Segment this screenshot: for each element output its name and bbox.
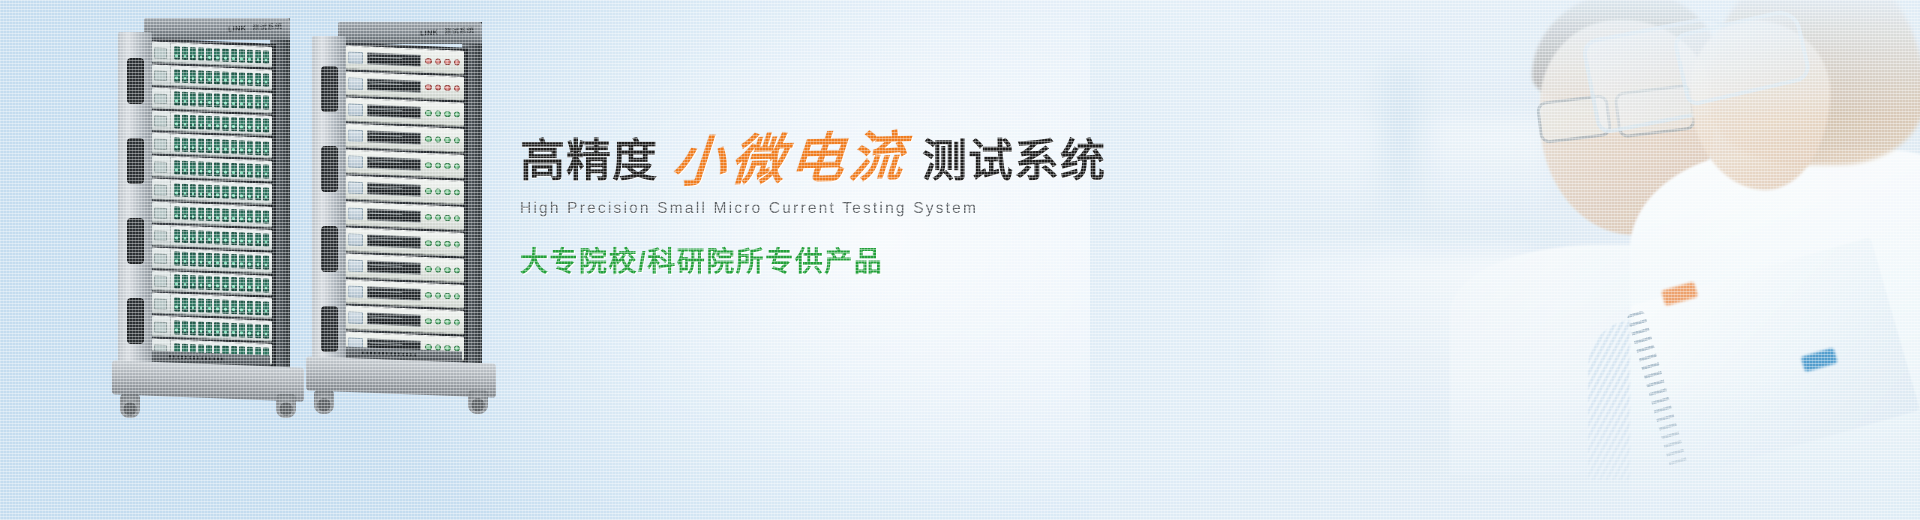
module-channel-port[interactable] (263, 164, 269, 178)
module-channel-port[interactable] (239, 186, 245, 200)
module-channel-row (171, 318, 272, 341)
module-channel-row (171, 180, 272, 203)
rack-instrument[interactable] (344, 123, 464, 152)
rack-module[interactable] (150, 110, 272, 136)
module-channel-port[interactable] (190, 275, 196, 289)
instrument-badge (348, 103, 363, 116)
module-channel-port[interactable] (239, 209, 245, 223)
rack-caster (120, 394, 140, 418)
instrument-knob[interactable] (435, 84, 442, 91)
module-channel-port[interactable] (214, 139, 220, 153)
module-channel-port[interactable] (182, 138, 188, 152)
instrument-knob[interactable] (435, 162, 442, 169)
module-channel-port[interactable] (206, 47, 212, 61)
instrument-knob[interactable] (425, 292, 432, 299)
module-channel-port[interactable] (263, 301, 269, 315)
module-channel-port[interactable] (247, 141, 253, 155)
rack-instrument[interactable] (344, 45, 464, 74)
module-left-panel (150, 294, 171, 314)
module-channel-port[interactable] (255, 141, 261, 155)
rack-instrument[interactable] (344, 149, 464, 178)
module-channel-port[interactable] (206, 207, 212, 221)
instrument-knob[interactable] (444, 319, 451, 326)
instrument-knob[interactable] (435, 292, 442, 299)
module-channel-port[interactable] (222, 208, 228, 222)
module-left-panel (150, 202, 171, 222)
module-channel-port[interactable] (255, 324, 261, 338)
module-left-panel (150, 248, 171, 268)
instrument-knob[interactable] (435, 318, 442, 325)
module-channel-port[interactable] (263, 233, 269, 247)
instrument-knob[interactable] (444, 241, 451, 248)
module-channel-port[interactable] (222, 48, 228, 62)
module-channel-port[interactable] (214, 71, 220, 85)
module-left-panel (150, 225, 171, 245)
module-channel-port[interactable] (206, 253, 212, 267)
rack-post-cutout (127, 58, 144, 104)
instrument-knob-row (425, 214, 460, 222)
module-channel-port[interactable] (231, 254, 237, 268)
module-channel-port[interactable] (190, 207, 196, 221)
module-channel-port[interactable] (174, 297, 180, 311)
instrument-knob[interactable] (425, 188, 432, 195)
module-left-panel (150, 111, 171, 131)
module-channel-port[interactable] (214, 231, 220, 245)
rack-module[interactable] (150, 247, 272, 273)
instrument-badge (348, 129, 363, 142)
module-channel-port[interactable] (247, 209, 253, 223)
rack-post-cutout (321, 306, 338, 352)
module-channel-port[interactable] (214, 116, 220, 130)
module-channel-port[interactable] (263, 73, 269, 87)
module-channel-port[interactable] (182, 115, 188, 129)
module-channel-port[interactable] (198, 230, 204, 244)
module-channel-port[interactable] (174, 229, 180, 243)
module-channel-port[interactable] (182, 275, 188, 289)
rack-module[interactable] (150, 293, 272, 319)
module-channel-port[interactable] (206, 276, 212, 290)
module-channel-port[interactable] (231, 209, 237, 223)
instrument-badge (348, 259, 363, 272)
module-channel-port[interactable] (222, 94, 228, 108)
instrument-knob[interactable] (454, 59, 461, 66)
rack-post-cutout (127, 138, 144, 184)
module-channel-port[interactable] (231, 300, 237, 314)
instrument-knob[interactable] (435, 188, 442, 195)
instrument-knob[interactable] (454, 293, 461, 300)
module-channel-port[interactable] (222, 231, 228, 245)
module-channel-port[interactable] (198, 276, 204, 290)
instrument-knob[interactable] (454, 241, 461, 248)
instrument-knob[interactable] (454, 319, 461, 326)
module-channel-port[interactable] (214, 322, 220, 336)
module-channel-port[interactable] (255, 255, 261, 269)
instrument-badge (348, 285, 363, 298)
module-channel-port[interactable] (198, 207, 204, 221)
module-channel-port[interactable] (198, 116, 204, 130)
module-left-panel (150, 65, 171, 85)
banner-copy: 高精度 小微电流 测试系统 High Precision Small Micro… (520, 132, 1240, 280)
module-channel-port[interactable] (231, 231, 237, 245)
module-channel-port[interactable] (222, 277, 228, 291)
instrument-knob[interactable] (444, 59, 451, 66)
module-channel-port[interactable] (190, 230, 196, 244)
module-channel-port[interactable] (190, 321, 196, 335)
module-channel-port[interactable] (206, 139, 212, 153)
instrument-badge (348, 311, 363, 324)
instrument-knob[interactable] (425, 240, 432, 247)
module-channel-port[interactable] (255, 95, 261, 109)
module-channel-port[interactable] (174, 137, 180, 151)
module-channel-port[interactable] (263, 119, 269, 133)
module-channel-port[interactable] (174, 183, 180, 197)
module-channel-port[interactable] (222, 300, 228, 314)
module-channel-port[interactable] (174, 69, 180, 83)
instrument-knob[interactable] (454, 189, 461, 196)
module-channel-port[interactable] (198, 139, 204, 153)
module-channel-port[interactable] (255, 73, 261, 87)
rack-top-panel: LINK测试系统 (144, 18, 290, 40)
rack-front-post (118, 32, 152, 384)
equipment-rack-left: LINK测试系统 (118, 18, 290, 418)
rack-instrument[interactable] (344, 253, 464, 282)
module-channel-port[interactable] (190, 252, 196, 266)
module-channel-port[interactable] (190, 184, 196, 198)
instrument-knob[interactable] (435, 110, 442, 117)
module-left-panel (150, 157, 171, 177)
module-channel-port[interactable] (263, 141, 269, 155)
module-channel-port[interactable] (174, 160, 180, 174)
module-channel-row (171, 135, 272, 158)
module-channel-port[interactable] (198, 161, 204, 175)
module-channel-port[interactable] (239, 72, 245, 86)
rack-post-cutout (321, 146, 338, 192)
instrument-knob[interactable] (454, 267, 461, 274)
module-channel-port[interactable] (239, 232, 245, 246)
instrument-badge (348, 207, 363, 220)
module-channel-port[interactable] (206, 93, 212, 107)
instrument-display (367, 261, 421, 275)
instrument-display (367, 235, 421, 249)
module-channel-port[interactable] (198, 93, 204, 107)
module-channel-port[interactable] (198, 47, 204, 61)
instrument-knob[interactable] (444, 137, 451, 144)
instrument-knob[interactable] (454, 215, 461, 222)
module-channel-port[interactable] (231, 71, 237, 85)
instrument-badge (348, 233, 363, 246)
rack-module[interactable] (150, 133, 272, 159)
module-channel-port[interactable] (263, 210, 269, 224)
instrument-knob[interactable] (444, 111, 451, 118)
instrument-knob[interactable] (425, 162, 432, 169)
instrument-knob[interactable] (425, 110, 432, 117)
module-channel-port[interactable] (182, 92, 188, 106)
instrument-display (367, 131, 421, 145)
module-channel-port[interactable] (182, 229, 188, 243)
instrument-knob[interactable] (444, 189, 451, 196)
instrument-knob[interactable] (435, 58, 442, 65)
module-channel-port[interactable] (255, 233, 261, 247)
module-channel-port[interactable] (263, 187, 269, 201)
module-channel-port[interactable] (247, 186, 253, 200)
instrument-knob[interactable] (435, 214, 442, 221)
module-channel-port[interactable] (214, 185, 220, 199)
module-channel-port[interactable] (255, 164, 261, 178)
module-left-panel (150, 42, 171, 62)
module-channel-port[interactable] (263, 96, 269, 110)
module-channel-port[interactable] (190, 115, 196, 129)
module-channel-port[interactable] (214, 254, 220, 268)
module-channel-port[interactable] (247, 232, 253, 246)
instrument-knob[interactable] (454, 163, 461, 170)
instrument-knob-row (425, 188, 460, 196)
instrument-knob[interactable] (454, 111, 461, 118)
module-channel-port[interactable] (182, 321, 188, 335)
module-left-panel (150, 88, 171, 108)
instrument-knob[interactable] (425, 214, 432, 221)
instrument-display (367, 313, 421, 327)
module-channel-port[interactable] (206, 70, 212, 84)
rack-module[interactable] (150, 156, 272, 182)
module-channel-port[interactable] (231, 49, 237, 63)
rack-module[interactable] (150, 178, 272, 204)
module-channel-port[interactable] (239, 255, 245, 269)
module-channel-port[interactable] (239, 95, 245, 109)
instrument-knob[interactable] (425, 266, 432, 273)
rack-post-cutout (321, 226, 338, 272)
module-channel-port[interactable] (239, 278, 245, 292)
module-channel-port[interactable] (247, 118, 253, 132)
module-channel-port[interactable] (222, 323, 228, 337)
instrument-knob[interactable] (454, 85, 461, 92)
module-channel-port[interactable] (182, 46, 188, 60)
banner-subtitle-english: High Precision Small Micro Current Testi… (520, 200, 1240, 218)
module-channel-port[interactable] (263, 50, 269, 64)
instrument-knob[interactable] (425, 84, 432, 91)
module-channel-port[interactable] (222, 140, 228, 154)
module-channel-row (171, 295, 272, 318)
instrument-knob[interactable] (435, 266, 442, 273)
module-channel-port[interactable] (247, 164, 253, 178)
module-channel-port[interactable] (174, 320, 180, 334)
instrument-knob[interactable] (444, 215, 451, 222)
product-banner: LINK测试系统 LINK测试系统 (0, 0, 1920, 520)
photo-bottom-fade (1090, 380, 1920, 520)
module-channel-port[interactable] (255, 118, 261, 132)
module-channel-row (171, 203, 272, 226)
rack-caster (468, 390, 488, 414)
module-channel-port[interactable] (174, 92, 180, 106)
module-channel-port[interactable] (222, 162, 228, 176)
module-channel-port[interactable] (231, 140, 237, 154)
module-left-panel (150, 271, 171, 291)
instrument-knob[interactable] (444, 85, 451, 92)
rack-instrument[interactable] (344, 175, 464, 204)
instrument-badge (348, 181, 363, 194)
module-channel-port[interactable] (206, 185, 212, 199)
module-channel-port[interactable] (247, 49, 253, 63)
module-channel-port[interactable] (247, 324, 253, 338)
module-channel-port[interactable] (247, 72, 253, 86)
instrument-knob[interactable] (425, 136, 432, 143)
module-channel-port[interactable] (206, 162, 212, 176)
module-channel-port[interactable] (182, 69, 188, 83)
rack-post-cutout (321, 66, 338, 112)
rack-module[interactable] (150, 270, 272, 296)
module-channel-port[interactable] (214, 162, 220, 176)
module-channel-port[interactable] (247, 95, 253, 109)
rack-instrument[interactable] (344, 71, 464, 100)
module-channel-port[interactable] (239, 300, 245, 314)
module-channel-port[interactable] (222, 185, 228, 199)
rack-brand-label: LINK测试系统 (228, 21, 282, 34)
instrument-badge (348, 51, 363, 64)
instrument-display (367, 53, 421, 67)
module-channel-port[interactable] (182, 206, 188, 220)
module-channel-row (171, 89, 272, 112)
instrument-display (367, 105, 421, 119)
module-channel-port[interactable] (206, 116, 212, 130)
module-left-panel (150, 317, 171, 337)
title-accent: 小微电流 (670, 129, 911, 189)
instrument-display (367, 157, 421, 171)
module-channel-port[interactable] (198, 184, 204, 198)
module-channel-port[interactable] (206, 322, 212, 336)
module-channel-port[interactable] (174, 206, 180, 220)
module-channel-port[interactable] (255, 210, 261, 224)
module-channel-port[interactable] (198, 70, 204, 84)
module-channel-port[interactable] (214, 208, 220, 222)
module-channel-port[interactable] (174, 275, 180, 289)
rack-module-stack (144, 38, 276, 368)
module-channel-row (171, 226, 272, 249)
module-left-panel (150, 179, 171, 199)
module-channel-port[interactable] (239, 118, 245, 132)
module-channel-port[interactable] (255, 187, 261, 201)
module-channel-port[interactable] (247, 278, 253, 292)
equipment-rack-right: LINK测试系统 (312, 22, 482, 414)
rack-caster (276, 394, 296, 418)
instrument-knob-row (425, 240, 460, 248)
module-channel-port[interactable] (190, 138, 196, 152)
instrument-badge (348, 155, 363, 168)
rack-module[interactable] (150, 316, 272, 342)
module-channel-port[interactable] (174, 252, 180, 266)
instrument-knob-row (425, 292, 460, 300)
banner-tagline-chinese: 大专院校/科研院所专供产品 (520, 240, 1240, 280)
module-channel-port[interactable] (255, 50, 261, 64)
instrument-knob-row (425, 318, 460, 326)
module-channel-port[interactable] (214, 299, 220, 313)
module-channel-port[interactable] (247, 255, 253, 269)
rack-instrument[interactable] (344, 97, 464, 126)
module-channel-port[interactable] (231, 163, 237, 177)
module-channel-port[interactable] (190, 298, 196, 312)
rack-instrument[interactable] (344, 227, 464, 256)
module-channel-port[interactable] (190, 47, 196, 61)
instrument-knob[interactable] (435, 240, 442, 247)
module-channel-port[interactable] (255, 301, 261, 315)
instrument-knob[interactable] (425, 58, 432, 65)
rack-module[interactable] (150, 41, 272, 67)
rack-module[interactable] (150, 201, 272, 227)
instrument-badge (348, 77, 363, 90)
module-channel-port[interactable] (263, 279, 269, 293)
instrument-knob[interactable] (444, 293, 451, 300)
module-channel-port[interactable] (174, 46, 180, 60)
module-channel-port[interactable] (198, 299, 204, 313)
module-channel-port[interactable] (182, 184, 188, 198)
module-channel-port[interactable] (239, 49, 245, 63)
rack-module[interactable] (150, 224, 272, 250)
module-channel-port[interactable] (190, 92, 196, 106)
module-channel-port[interactable] (190, 70, 196, 84)
instrument-knob[interactable] (444, 267, 451, 274)
module-channel-port[interactable] (198, 321, 204, 335)
module-channel-port[interactable] (231, 94, 237, 108)
rack-instrument[interactable] (344, 305, 464, 334)
module-channel-port[interactable] (214, 48, 220, 62)
module-channel-port[interactable] (231, 277, 237, 291)
module-channel-port[interactable] (263, 256, 269, 270)
instrument-knob-row (425, 266, 460, 274)
rack-front-post (312, 36, 346, 380)
module-channel-port[interactable] (239, 163, 245, 177)
instrument-knob-row (425, 58, 460, 66)
module-channel-port[interactable] (190, 161, 196, 175)
module-channel-port[interactable] (182, 252, 188, 266)
instrument-display (367, 287, 421, 301)
module-channel-port[interactable] (206, 230, 212, 244)
module-channel-row (171, 249, 272, 272)
rack-module-stack (338, 42, 468, 364)
module-channel-port[interactable] (222, 117, 228, 131)
rack-caster (314, 390, 334, 414)
instrument-knob[interactable] (454, 137, 461, 144)
rack-module[interactable] (150, 64, 272, 90)
instrument-knob-row (425, 110, 460, 118)
module-channel-port[interactable] (231, 186, 237, 200)
instrument-knob[interactable] (425, 318, 432, 325)
module-channel-port[interactable] (198, 253, 204, 267)
module-channel-port[interactable] (247, 301, 253, 315)
module-channel-port[interactable] (182, 161, 188, 175)
module-channel-port[interactable] (231, 323, 237, 337)
instrument-knob[interactable] (444, 163, 451, 170)
module-channel-port[interactable] (222, 254, 228, 268)
instrument-knob-row (425, 84, 460, 92)
module-channel-row (171, 66, 272, 89)
rack-instrument[interactable] (344, 201, 464, 230)
instrument-knob[interactable] (435, 136, 442, 143)
module-channel-port[interactable] (214, 276, 220, 290)
rack-instrument[interactable] (344, 279, 464, 308)
module-channel-port[interactable] (222, 71, 228, 85)
module-channel-port[interactable] (206, 299, 212, 313)
module-channel-port[interactable] (255, 278, 261, 292)
module-channel-port[interactable] (239, 140, 245, 154)
rack-module[interactable] (150, 87, 272, 113)
module-channel-port[interactable] (174, 115, 180, 129)
module-channel-port[interactable] (214, 94, 220, 108)
module-channel-port[interactable] (263, 324, 269, 338)
module-channel-row (171, 43, 272, 66)
photo-top-fade (1090, 0, 1920, 120)
module-channel-port[interactable] (182, 298, 188, 312)
module-channel-row (171, 272, 272, 295)
module-channel-port[interactable] (231, 117, 237, 131)
module-channel-port[interactable] (239, 323, 245, 337)
